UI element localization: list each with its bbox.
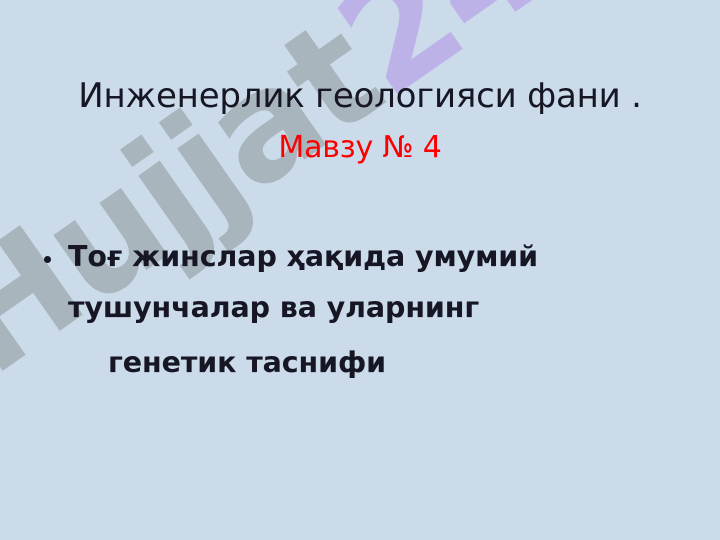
slide-title-topic-number: Мавзу № 4 — [0, 130, 720, 166]
bullet-dot-icon — [44, 256, 51, 263]
presentation-slide: Hujjat24 Инженерлик геологияси фани . Ма… — [0, 0, 720, 540]
body-text-line-3: генетик таснифи — [108, 349, 720, 378]
slide-title-primary: Инженерлик геологияси фани . — [0, 76, 720, 116]
slide-body-block: Тоғ жинслар ҳақида умумий тушунчалар ва … — [0, 243, 720, 378]
body-text-line-1: Тоғ жинслар ҳақида умумий — [68, 243, 720, 272]
slide-content: Инженерлик геологияси фани . Мавзу № 4 Т… — [0, 0, 720, 540]
slide-title-block: Инженерлик геологияси фани . Мавзу № 4 — [0, 76, 720, 166]
body-text-line-2: тушунчалар ва уларнинг — [68, 294, 720, 323]
bullet-list-item: Тоғ жинслар ҳақида умумий тушунчалар ва … — [0, 243, 720, 378]
